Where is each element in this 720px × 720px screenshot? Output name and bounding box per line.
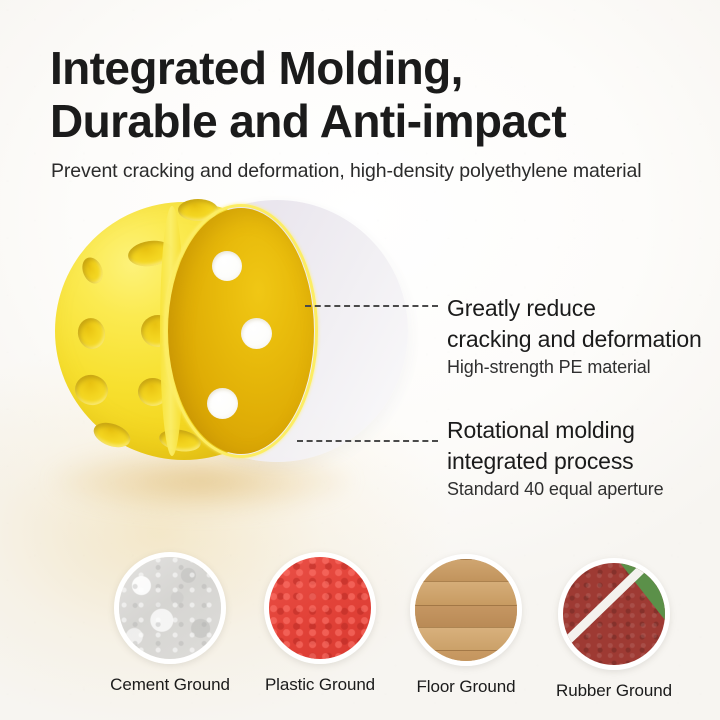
ground-plastic-label: Plastic Ground xyxy=(254,675,386,695)
ground-plastic: Plastic Ground xyxy=(254,552,386,695)
callout-durability-title-1: Greatly reduce xyxy=(447,293,702,324)
wood-plank xyxy=(410,627,522,651)
ground-cement: Cement Ground xyxy=(104,552,236,695)
headline-line-2: Durable and Anti-impact xyxy=(50,95,690,148)
ball-hole-outer xyxy=(72,371,111,408)
callout-durability: Greatly reduce cracking and deformation … xyxy=(447,293,702,378)
ground-rubber-label: Rubber Ground xyxy=(548,681,680,701)
callout-process-title-2: integrated process xyxy=(447,446,664,477)
floor-texture xyxy=(415,559,517,661)
callout-durability-title-2: cracking and deformation xyxy=(447,324,702,355)
ball-rim-highlight xyxy=(164,204,318,458)
product-image xyxy=(0,180,460,540)
callout-process-title-1: Rotational molding xyxy=(447,415,664,446)
wood-plank xyxy=(410,581,522,606)
ground-cement-label: Cement Ground xyxy=(104,675,236,695)
callout-process-subtext: Standard 40 equal aperture xyxy=(447,479,664,500)
rubber-texture xyxy=(563,563,665,665)
wood-plank xyxy=(410,650,522,666)
ground-floor-label: Floor Ground xyxy=(400,677,532,697)
wood-plank xyxy=(410,605,522,628)
ground-floor-swatch xyxy=(410,554,522,666)
headline-line-1: Integrated Molding, xyxy=(50,42,463,94)
leader-line-durability xyxy=(305,305,438,307)
ground-floor: Floor Ground xyxy=(400,554,532,697)
ball-hole-outer xyxy=(75,316,108,352)
page-title: Integrated Molding, Durable and Anti-imp… xyxy=(50,42,690,148)
ball-hole-outer xyxy=(79,254,107,286)
leader-line-process xyxy=(297,440,438,442)
callout-durability-subtext: High-strength PE material xyxy=(447,357,702,378)
ground-types-row: Cement Ground Plastic Ground Floor Groun… xyxy=(0,548,720,720)
ground-rubber: Rubber Ground xyxy=(548,558,680,701)
plastic-texture xyxy=(269,557,371,659)
ground-plastic-swatch xyxy=(264,552,376,664)
ball-hole-outer xyxy=(90,418,133,452)
wood-plank xyxy=(410,559,522,582)
cement-texture xyxy=(119,557,221,659)
ground-cement-swatch xyxy=(114,552,226,664)
product-feature-page: Integrated Molding, Durable and Anti-imp… xyxy=(0,0,720,720)
callout-process: Rotational molding integrated process St… xyxy=(447,415,664,500)
ground-rubber-swatch xyxy=(558,558,670,670)
